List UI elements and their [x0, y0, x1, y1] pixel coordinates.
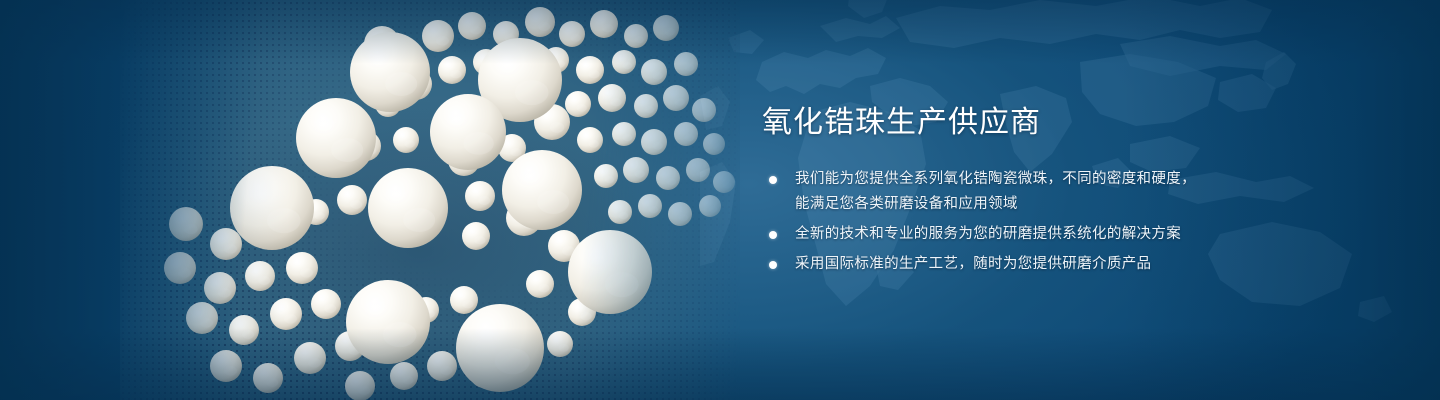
bullet-text-line1: 全新的技术和专业的服务为您的研磨提供系统化的解决方案 [795, 226, 1181, 242]
banner-content: 氧化锆珠生产供应商 我们能为您提供全系列氧化锆陶瓷微珠，不同的密度和硬度， 能满… [762, 104, 1302, 277]
bullet-dot-icon [769, 231, 777, 239]
bullet-text-line2: 能满足您各类研磨设备和应用领域 [795, 192, 1302, 217]
bullet-text-line1: 我们能为您提供全系列氧化锆陶瓷微珠，不同的密度和硬度， [795, 171, 1196, 187]
hero-banner: 氧化锆珠生产供应商 我们能为您提供全系列氧化锆陶瓷微珠，不同的密度和硬度， 能满… [0, 0, 1440, 400]
product-photo-zirconia-beads [120, 0, 740, 400]
feature-list: 我们能为您提供全系列氧化锆陶瓷微珠，不同的密度和硬度， 能满足您各类研磨设备和应… [762, 167, 1302, 277]
bullet-dot-icon [769, 176, 777, 184]
list-item: 全新的技术和专业的服务为您的研磨提供系统化的解决方案 [762, 222, 1302, 247]
list-item: 我们能为您提供全系列氧化锆陶瓷微珠，不同的密度和硬度， 能满足您各类研磨设备和应… [762, 167, 1302, 217]
list-item: 采用国际标准的生产工艺，随时为您提供研磨介质产品 [762, 252, 1302, 277]
bead-cluster [120, 0, 740, 400]
bullet-dot-icon [769, 261, 777, 269]
bullet-text-line1: 采用国际标准的生产工艺，随时为您提供研磨介质产品 [795, 256, 1151, 272]
banner-headline: 氧化锆珠生产供应商 [762, 104, 1302, 142]
